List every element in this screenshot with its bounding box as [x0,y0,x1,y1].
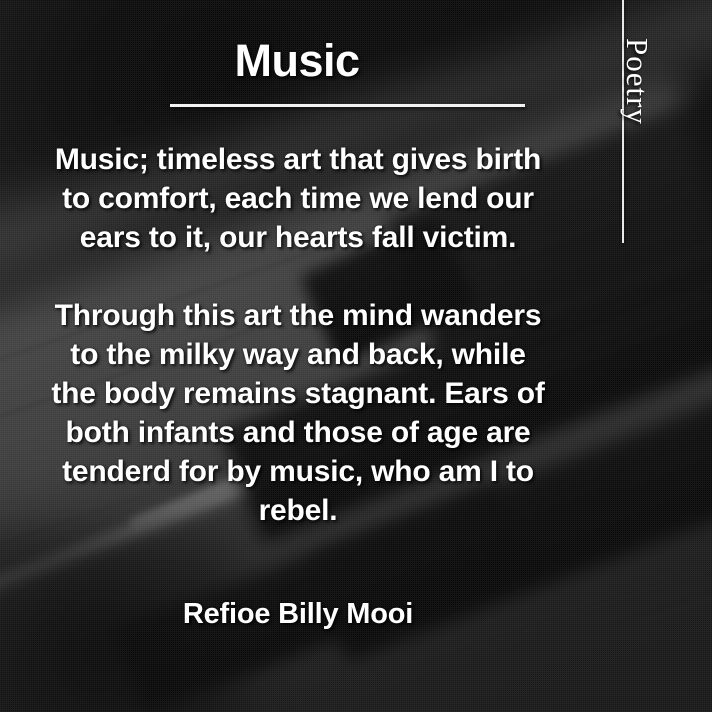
poster-content: Music Music; timeless art that gives bir… [0,0,712,712]
title-divider-rule [170,104,525,107]
category-label-poetry: Poetry [619,38,655,125]
stanza-spacer [50,257,546,296]
page-title: Music [0,38,594,83]
poem-author: Refioe Billy Mooi [50,598,546,631]
poetry-poster: Music Music; timeless art that gives bir… [0,0,712,712]
poem-stanza: Through this art the mind wanders to the… [50,296,546,530]
poem-body: Music; timeless art that gives birth to … [50,140,546,530]
poem-stanza: Music; timeless art that gives birth to … [50,140,546,257]
